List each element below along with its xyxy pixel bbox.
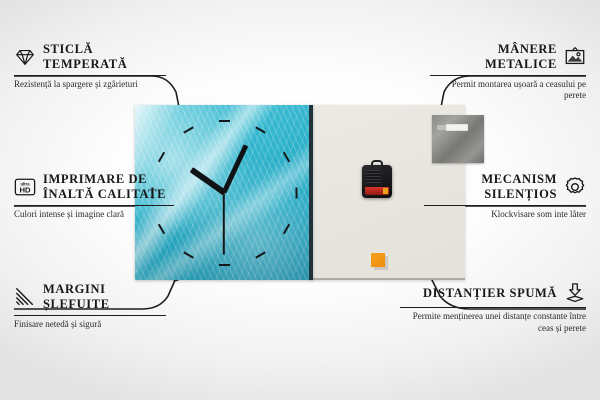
- callout-subtitle: Klockvisare som inte låter: [424, 209, 586, 221]
- callout-rule: [14, 205, 174, 206]
- clock-pivot: [220, 190, 225, 195]
- callout-metal-handles: MÂNERE METALICE Permit montarea ușoară a…: [430, 42, 586, 102]
- callout-header: STICLĂ TEMPERATĂ: [14, 42, 166, 72]
- callout-rule: [14, 315, 166, 316]
- polished-edge-icon: [14, 286, 36, 308]
- callout-tempered-glass: STICLĂ TEMPERATĂ Rezistență la spargere …: [14, 42, 166, 90]
- callout-title: MÂNERE METALICE: [430, 42, 557, 72]
- svg-text:HD: HD: [19, 185, 31, 194]
- foam-spacer: [371, 253, 385, 267]
- callout-rule: [430, 75, 586, 76]
- callout-rule: [14, 75, 166, 76]
- clock-minute-hand: [222, 144, 249, 193]
- callout-header: MÂNERE METALICE: [430, 42, 586, 72]
- ultra-hd-icon: ultra HD: [14, 176, 36, 198]
- callout-foam-spacer: DISTANȚIER SPUMĂ Permite menținerea unei…: [400, 282, 586, 335]
- callout-title: MARGINI ȘLEFUITE: [43, 282, 166, 312]
- product-photo: [135, 105, 465, 280]
- clock-tick: [158, 223, 165, 234]
- callout-title: MECANISM SILENȚIOS: [424, 172, 557, 202]
- clock-tick: [283, 151, 290, 162]
- callout-print-quality: ultra HD IMPRIMARE DE ÎNALTĂ CALITATE Cu…: [14, 172, 174, 220]
- hanger-slot: [446, 124, 468, 131]
- callout-header: ultra HD IMPRIMARE DE ÎNALTĂ CALITATE: [14, 172, 174, 202]
- down-arrow-layer-icon: [564, 282, 586, 304]
- clock-tick: [255, 251, 266, 258]
- clock-tick: [183, 127, 194, 134]
- callout-header: MARGINI ȘLEFUITE: [14, 282, 166, 312]
- callout-polished-edges: MARGINI ȘLEFUITE Finisare netedă și sigu…: [14, 282, 166, 330]
- callout-title: IMPRIMARE DE ÎNALTĂ CALITATE: [43, 172, 174, 202]
- callout-subtitle: Finisare netedă și sigură: [14, 319, 166, 331]
- clock-tick: [283, 223, 290, 234]
- callout-subtitle: Permit montarea ușoară a ceasului pe per…: [430, 79, 586, 103]
- callout-rule: [400, 307, 586, 308]
- callout-title: DISTANȚIER SPUMĂ: [423, 286, 557, 301]
- callout-rule: [424, 205, 586, 206]
- movement-hanging-tab: [371, 160, 383, 167]
- callout-title: STICLĂ TEMPERATĂ: [43, 42, 166, 72]
- callout-subtitle: Culori intense și imagine clară: [14, 209, 174, 221]
- clock-second-hand: [223, 192, 225, 254]
- clock-tick: [295, 187, 297, 198]
- battery: [365, 187, 389, 195]
- clock-tick: [219, 264, 230, 266]
- wall-hanging-frame-icon: [564, 46, 586, 68]
- metal-hanger-plate: [432, 115, 484, 163]
- quartz-movement: [362, 165, 392, 198]
- callout-header: MECANISM SILENȚIOS: [424, 172, 586, 202]
- gear-icon: [564, 176, 586, 198]
- diamond-icon: [14, 46, 36, 68]
- clock-tick: [219, 120, 230, 122]
- clock-tick: [183, 251, 194, 258]
- callout-subtitle: Permite menținerea unei distanțe constan…: [400, 311, 586, 335]
- callout-header: DISTANȚIER SPUMĂ: [400, 282, 586, 304]
- clock-tick: [158, 151, 165, 162]
- callout-silent-mechanism: MECANISM SILENȚIOS Klockvisare som inte …: [424, 172, 586, 220]
- movement-housing: [366, 170, 381, 183]
- clock-hour-hand: [190, 167, 226, 194]
- clock-tick: [255, 127, 266, 134]
- callout-subtitle: Rezistență la spargere și zgârieturi: [14, 79, 166, 91]
